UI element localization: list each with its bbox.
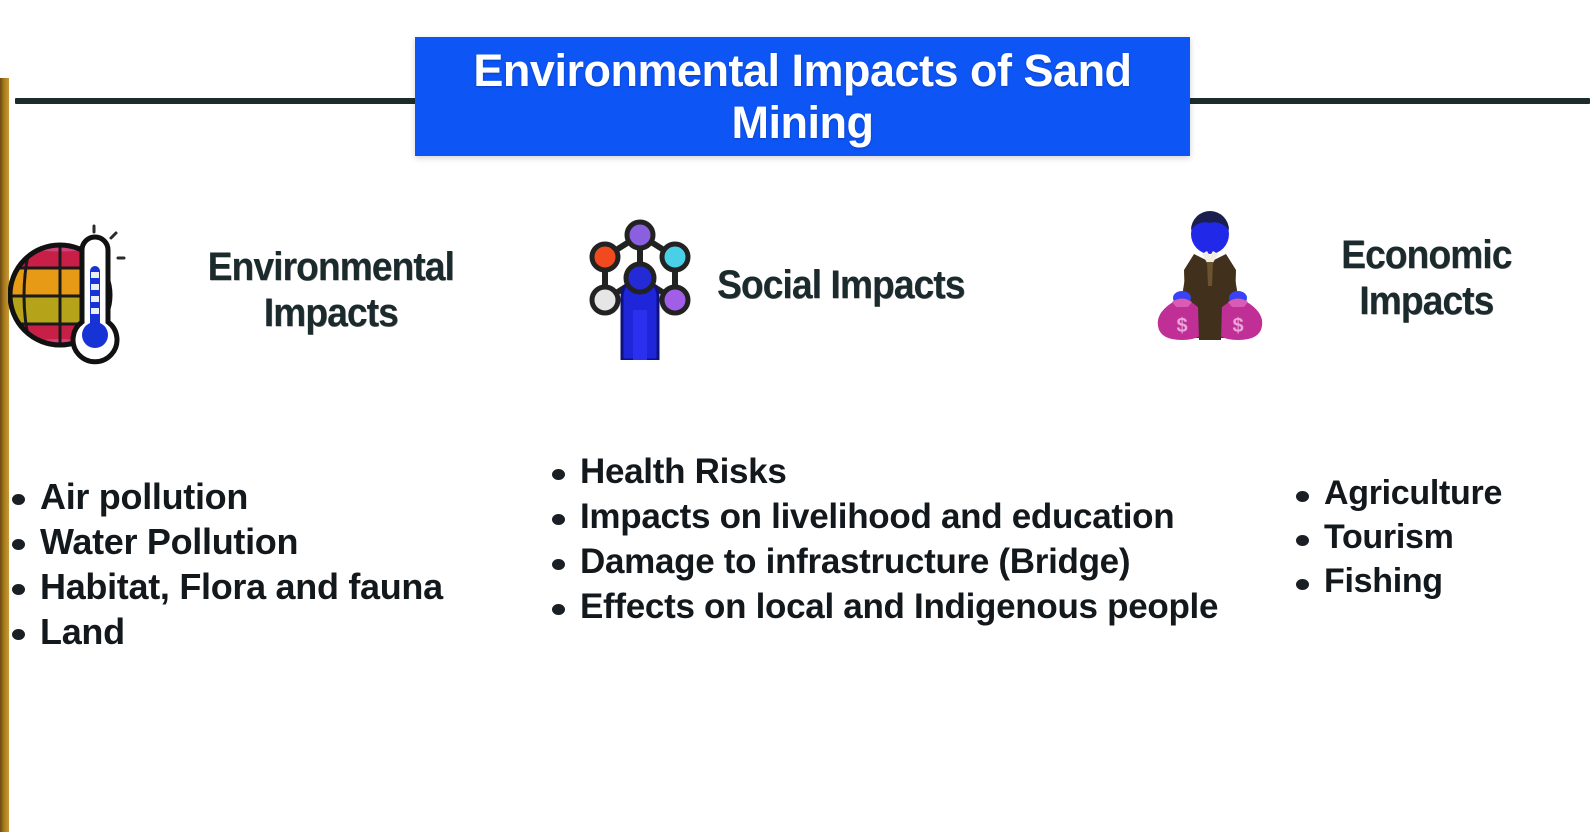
column-environmental-title: Environmental Impacts <box>142 244 520 336</box>
social-impacts-list: Health Risks Impacts on livelihood and e… <box>548 450 1288 630</box>
environmental-impacts-list: Air pollution Water Pollution Habitat, F… <box>8 475 548 655</box>
businessman-money-bags-icon: $ $ <box>1150 210 1270 345</box>
list-item: Impacts on livelihood and education <box>548 495 1288 539</box>
list-item: Air pollution <box>8 475 548 519</box>
column-environmental: Environmental Impacts <box>8 210 548 370</box>
column-economic: $ $ Economic Impacts <box>1150 210 1590 345</box>
slide-title-banner: Environmental Impacts of Sand Mining <box>415 37 1190 156</box>
slide-canvas: Environmental Impacts of Sand Mining <box>0 0 1590 832</box>
column-economic-title: Economic Impacts <box>1284 232 1569 324</box>
column-economic-header: $ $ Economic Impacts <box>1150 210 1590 345</box>
social-network-person-icon <box>578 210 703 360</box>
list-item: Land <box>8 610 548 654</box>
list-item: Agriculture <box>1292 472 1590 515</box>
column-social-title: Social Impacts <box>717 262 964 308</box>
slide-title: Environmental Impacts of Sand Mining <box>415 45 1190 149</box>
list-item: Tourism <box>1292 516 1590 559</box>
economic-impacts-list: Agriculture Tourism Fishing <box>1292 472 1590 604</box>
list-item: Health Risks <box>548 450 1288 494</box>
list-item: Damage to infrastructure (Bridge) <box>548 540 1288 584</box>
list-item: Habitat, Flora and fauna <box>8 565 548 609</box>
svg-text:$: $ <box>1232 315 1243 337</box>
list-item: Effects on local and Indigenous people <box>548 585 1288 629</box>
list-item: Water Pollution <box>8 520 548 564</box>
column-environmental-header: Environmental Impacts <box>8 210 548 370</box>
list-item: Fishing <box>1292 560 1590 603</box>
impact-columns: Environmental Impacts <box>0 210 1590 830</box>
globe-thermometer-icon <box>8 210 128 370</box>
svg-text:$: $ <box>1176 315 1187 337</box>
